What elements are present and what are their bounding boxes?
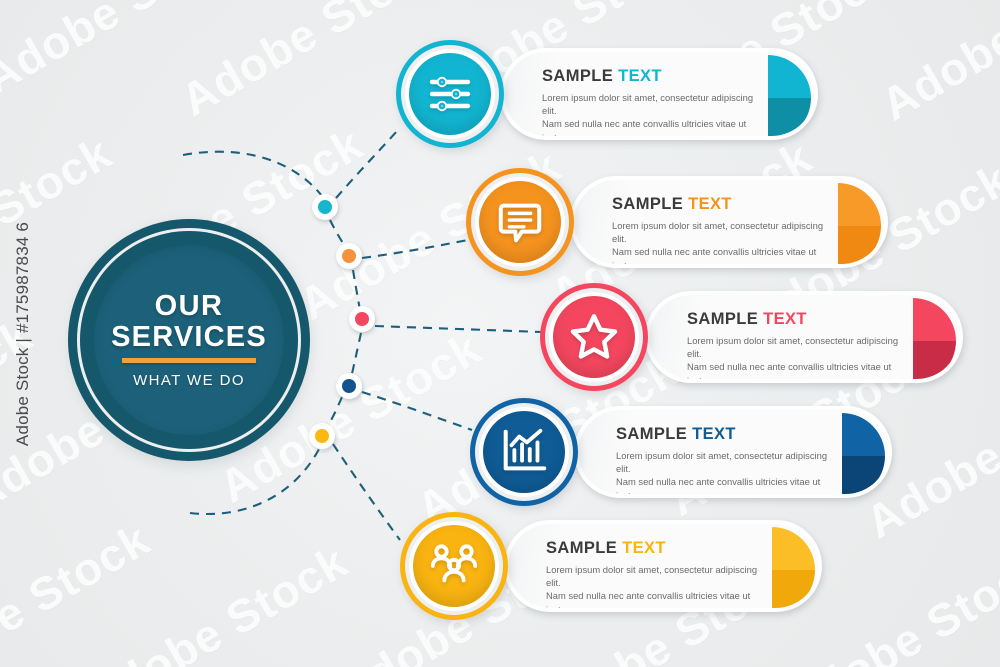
panel-accent-cap [838,183,881,264]
service-panel[interactable]: SAMPLE TEXTLorem ipsum dolor sit amet, c… [574,406,892,498]
people-group-icon [413,525,495,607]
service-panel-text: SAMPLE TEXTLorem ipsum dolor sit amet, c… [546,539,758,608]
service-body-line-1: Lorem ipsum dolor sit amet, consectetur … [616,449,828,475]
service-row[interactable]: SAMPLE TEXTLorem ipsum dolor sit amet, c… [0,283,1000,391]
service-title-accent: TEXT [618,67,662,85]
service-body-line-2: Nam sed nulla nec ante convallis ultrici… [542,117,754,136]
panel-cap-top [772,527,815,570]
service-panel-surface: SAMPLE TEXTLorem ipsum dolor sit amet, c… [649,295,959,379]
service-body: Lorem ipsum dolor sit amet, consectetur … [612,219,824,264]
panel-cap-top [838,183,881,226]
panel-accent-cap [913,298,956,379]
service-panel[interactable]: SAMPLE TEXTLorem ipsum dolor sit amet, c… [645,291,963,383]
service-panel-text: SAMPLE TEXTLorem ipsum dolor sit amet, c… [612,195,824,264]
service-row[interactable]: SAMPLE TEXTLorem ipsum dolor sit amet, c… [0,40,1000,148]
service-title: SAMPLE TEXT [546,539,758,558]
bar-chart-icon [483,411,565,493]
service-panel-surface: SAMPLE TEXTLorem ipsum dolor sit amet, c… [508,524,818,608]
panel-cap-top [842,413,885,456]
star-icon [553,296,635,378]
service-panel[interactable]: SAMPLE TEXTLorem ipsum dolor sit amet, c… [504,520,822,612]
service-title: SAMPLE TEXT [687,310,899,329]
service-title-accent: TEXT [688,195,732,213]
service-body: Lorem ipsum dolor sit amet, consectetur … [616,449,828,494]
service-icon-badge[interactable] [470,398,578,506]
service-panel[interactable]: SAMPLE TEXTLorem ipsum dolor sit amet, c… [570,176,888,268]
panel-cap-bottom [768,98,811,136]
service-body-line-2: Nam sed nulla nec ante convallis ultrici… [687,360,899,379]
service-panel-text: SAMPLE TEXTLorem ipsum dolor sit amet, c… [542,67,754,136]
service-body: Lorem ipsum dolor sit amet, consectetur … [542,91,754,136]
service-title-main: SAMPLE [546,539,617,557]
service-panel-text: SAMPLE TEXTLorem ipsum dolor sit amet, c… [687,310,899,379]
service-row[interactable]: SAMPLE TEXTLorem ipsum dolor sit amet, c… [0,168,1000,276]
service-body-line-1: Lorem ipsum dolor sit amet, consectetur … [612,219,824,245]
service-icon-badge[interactable] [466,168,574,276]
service-title-main: SAMPLE [616,425,687,443]
panel-cap-bottom [913,341,956,379]
service-panel-surface: SAMPLE TEXTLorem ipsum dolor sit amet, c… [504,52,814,136]
service-body-line-2: Nam sed nulla nec ante convallis ultrici… [612,245,824,264]
panel-cap-bottom [772,570,815,608]
service-icon-badge[interactable] [400,512,508,620]
service-panel-surface: SAMPLE TEXTLorem ipsum dolor sit amet, c… [578,410,888,494]
service-body-line-2: Nam sed nulla nec ante convallis ultrici… [546,589,758,608]
service-title: SAMPLE TEXT [542,67,754,86]
speech-bubble-icon [479,181,561,263]
service-title: SAMPLE TEXT [612,195,824,214]
service-panel-text: SAMPLE TEXTLorem ipsum dolor sit amet, c… [616,425,828,494]
service-title-main: SAMPLE [612,195,683,213]
service-title-main: SAMPLE [687,310,758,328]
service-row[interactable]: SAMPLE TEXTLorem ipsum dolor sit amet, c… [0,398,1000,506]
panel-cap-bottom [838,226,881,264]
panel-cap-bottom [842,456,885,494]
service-row[interactable]: SAMPLE TEXTLorem ipsum dolor sit amet, c… [0,512,1000,620]
panel-accent-cap [772,527,815,608]
service-title: SAMPLE TEXT [616,425,828,444]
service-panel-surface: SAMPLE TEXTLorem ipsum dolor sit amet, c… [574,180,884,264]
service-title-accent: TEXT [692,425,736,443]
panel-cap-top [913,298,956,341]
service-body-line-2: Nam sed nulla nec ante convallis ultrici… [616,475,828,494]
sliders-icon [409,53,491,135]
service-body: Lorem ipsum dolor sit amet, consectetur … [546,563,758,608]
service-body-line-1: Lorem ipsum dolor sit amet, consectetur … [542,91,754,117]
service-icon-badge[interactable] [540,283,648,391]
infographic-canvas: Adobe StockAdobe StockAdobe StockAdobe S… [0,0,1000,667]
service-title-accent: TEXT [763,310,807,328]
service-body-line-1: Lorem ipsum dolor sit amet, consectetur … [546,563,758,589]
panel-cap-top [768,55,811,98]
service-body: Lorem ipsum dolor sit amet, consectetur … [687,334,899,379]
service-body-line-1: Lorem ipsum dolor sit amet, consectetur … [687,334,899,360]
service-title-main: SAMPLE [542,67,613,85]
service-icon-badge[interactable] [396,40,504,148]
panel-accent-cap [768,55,811,136]
panel-accent-cap [842,413,885,494]
service-panel[interactable]: SAMPLE TEXTLorem ipsum dolor sit amet, c… [500,48,818,140]
service-title-accent: TEXT [622,539,666,557]
